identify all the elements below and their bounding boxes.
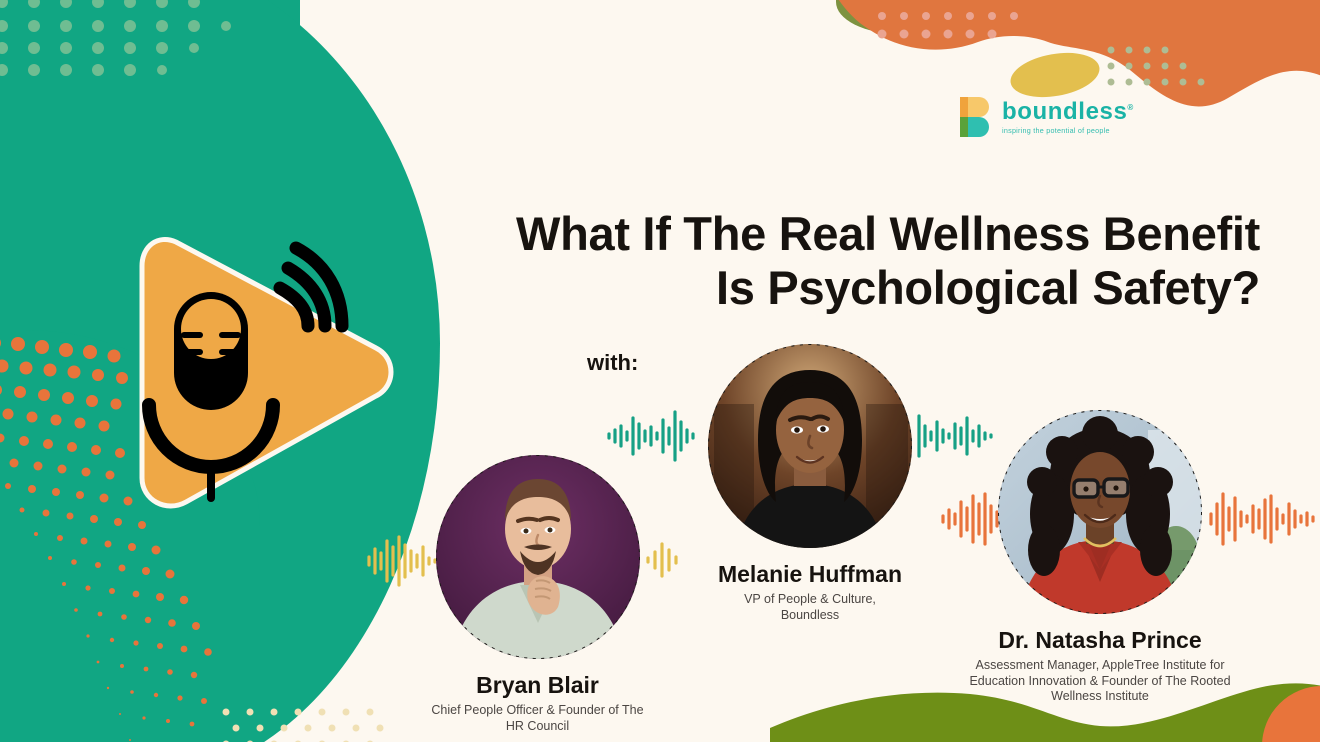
orange-halftone-dots: [0, 300, 230, 742]
speaker-role: Chief People Officer & Founder of The HR…: [395, 703, 680, 734]
teal-blob-lower-shape: [0, 330, 260, 742]
boundless-logo[interactable]: boundless® inspiring the potential of pe…: [958, 96, 1134, 138]
teal-corner-shape: [0, 0, 300, 300]
speaker-role-line-1: Chief People Officer & Founder of The: [431, 703, 643, 717]
speaker-role-line-2: HR Council: [506, 719, 569, 733]
olive-top-shape: [836, 0, 996, 34]
speaker-name: Dr. Natasha Prince: [935, 628, 1265, 653]
dashed-ring: [708, 344, 912, 548]
speaker-role: VP of People & Culture, Boundless: [660, 592, 960, 623]
speaker-role-line-1: Assessment Manager, AppleTree Institute …: [976, 658, 1225, 672]
speaker-natasha-prince: Dr. Natasha Prince Assessment Manager, A…: [935, 410, 1265, 704]
salmon-dot-grid: [874, 8, 1024, 48]
orange-circle-bottom-right: [1262, 686, 1320, 742]
speaker-bryan-blair: Bryan Blair Chief People Officer & Found…: [395, 455, 680, 734]
page-title: What If The Real Wellness Benefit Is Psy…: [330, 207, 1260, 313]
green-dot-grid: [0, 0, 300, 76]
logo-tagline: inspiring the potential of people: [1002, 127, 1134, 134]
boundless-b-logo-icon: [958, 96, 992, 138]
avatar: [436, 455, 640, 659]
teal-blob-shape: [0, 0, 440, 742]
speaker-role: Assessment Manager, AppleTree Institute …: [935, 658, 1265, 704]
with-label: with:: [587, 350, 638, 376]
sage-dot-grid: [1104, 44, 1224, 92]
speaker-name: Bryan Blair: [395, 673, 680, 698]
logo-wordmark: boundless®: [1002, 100, 1134, 124]
speaker-melanie-huffman: Melanie Huffman VP of People & Culture, …: [660, 344, 960, 623]
yellow-ellipse-shape: [1007, 47, 1103, 104]
speaker-name: Melanie Huffman: [660, 562, 960, 587]
speaker-role-line-2: Education Innovation & Founder of The Ro…: [969, 674, 1230, 688]
speaker-role-line-2: Boundless: [781, 608, 839, 622]
logo-trademark: ®: [1127, 103, 1134, 112]
avatar: [998, 410, 1202, 614]
avatar: [708, 344, 912, 548]
title-line-2: Is Psychological Safety?: [330, 261, 1260, 314]
speaker-role-line-1: VP of People & Culture,: [744, 592, 876, 606]
dashed-ring: [998, 410, 1202, 614]
logo-name-text: boundless: [1002, 98, 1127, 125]
speaker-role-line-3: Wellness Institute: [1051, 689, 1149, 703]
title-line-1: What If The Real Wellness Benefit: [516, 207, 1260, 260]
dashed-ring: [436, 455, 640, 659]
promo-graphic-canvas: boundless® inspiring the potential of pe…: [0, 0, 1320, 742]
